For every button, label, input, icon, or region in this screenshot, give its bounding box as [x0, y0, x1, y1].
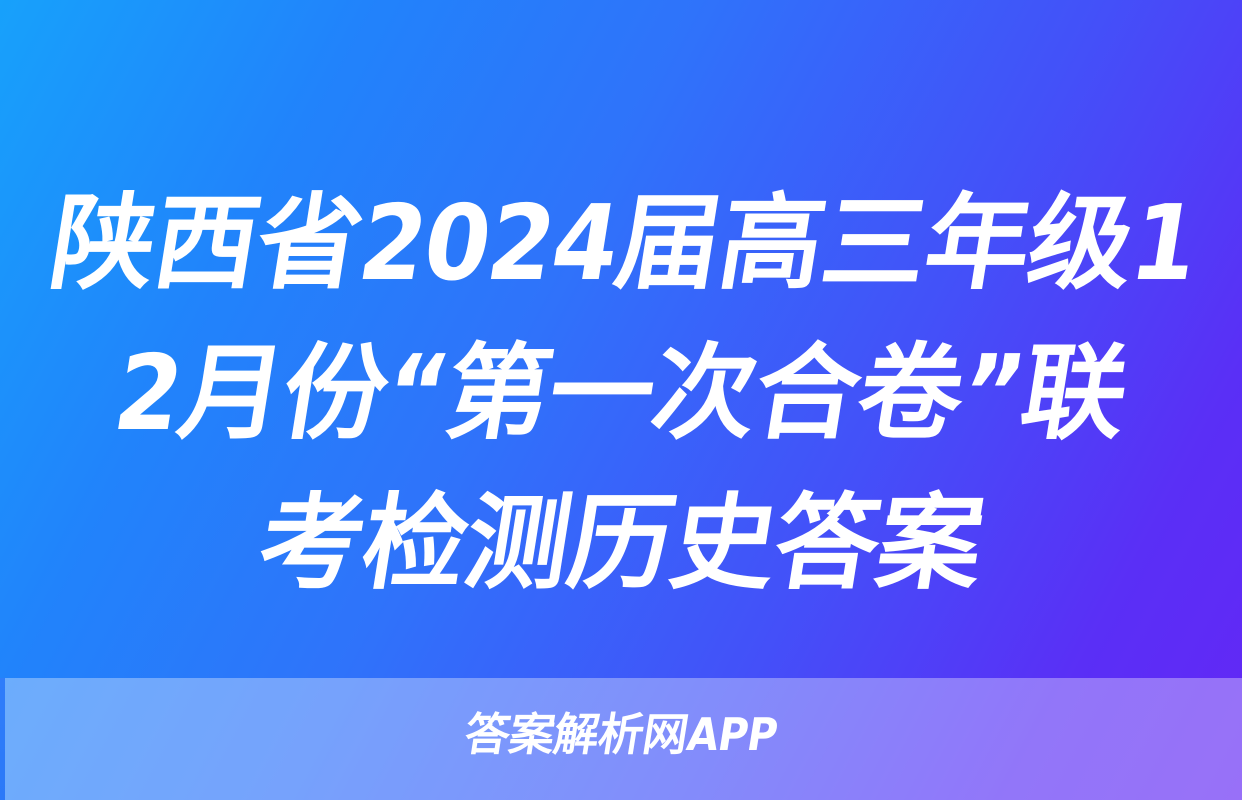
- page-title: 陕西省2024届高三年级1 2月份“第一次合卷”联 考检测历史答案: [0, 168, 1242, 618]
- title-line-3: 考检测历史答案: [40, 468, 1202, 618]
- watermark-brand: 答案解析网APP: [0, 703, 1242, 767]
- poster-canvas: 陕西省2024届高三年级1 2月份“第一次合卷”联 考检测历史答案 答案解析网A…: [0, 0, 1242, 800]
- title-line-2: 2月份“第一次合卷”联: [40, 318, 1202, 468]
- title-line-1: 陕西省2024届高三年级1: [40, 168, 1202, 318]
